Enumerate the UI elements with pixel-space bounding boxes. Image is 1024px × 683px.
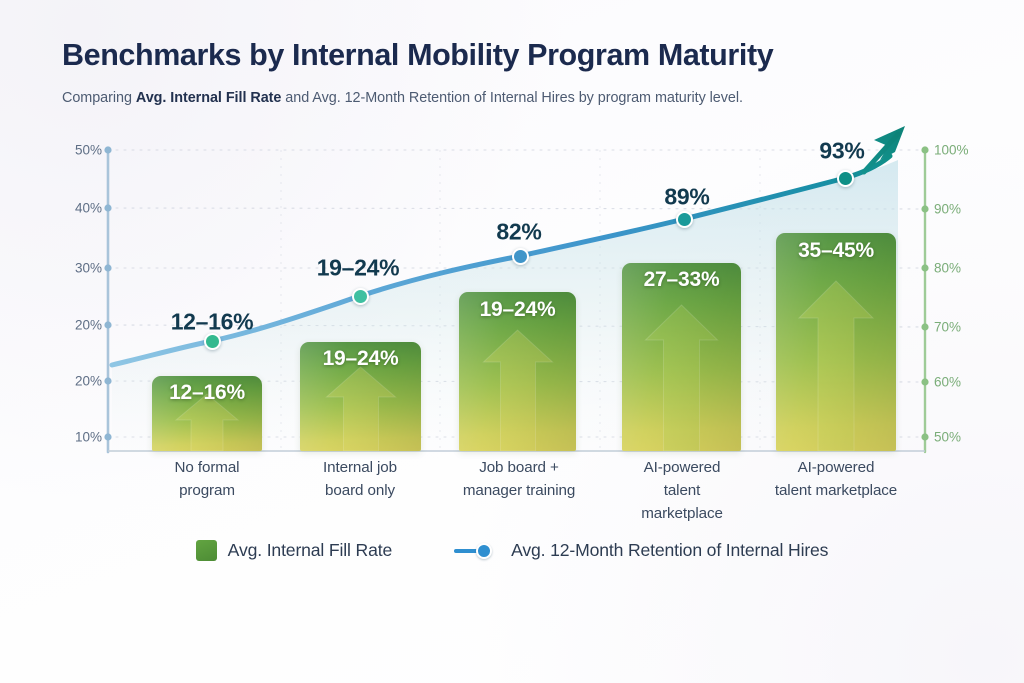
legend-label: Avg. 12-Month Retention of Internal Hire… bbox=[511, 540, 828, 561]
chart-subtitle: Comparing Avg. Internal Fill Rate and Av… bbox=[62, 90, 743, 106]
arrow-icon bbox=[874, 126, 905, 160]
bar-value-label: 19–24% bbox=[300, 347, 421, 371]
category-line: program bbox=[152, 479, 262, 502]
bar-fill-rate[interactable] bbox=[776, 233, 896, 451]
right-axis-tick: 50% bbox=[934, 430, 961, 445]
x-axis-category-label: No formal program bbox=[152, 456, 262, 502]
right-axis-tick: 100% bbox=[934, 143, 969, 158]
line-data-point[interactable] bbox=[352, 288, 369, 305]
legend-item-retention[interactable]: Avg. 12-Month Retention of Internal Hire… bbox=[454, 540, 828, 561]
x-axis-category-label: AI-powered talent marketplace bbox=[620, 456, 744, 525]
right-axis-spine bbox=[921, 146, 928, 452]
page-title: Benchmarks by Internal Mobility Program … bbox=[62, 38, 773, 73]
left-axis-tick: 40% bbox=[75, 201, 102, 216]
y-axis-left: 50% 40% 30% 20% 20% 10% bbox=[58, 0, 102, 683]
category-line: talent bbox=[620, 479, 744, 502]
x-axis-category-label: Job board + manager training bbox=[446, 456, 592, 502]
chart-legend: Avg. Internal Fill Rate Avg. 12-Month Re… bbox=[0, 540, 1024, 561]
category-line: Internal job bbox=[296, 456, 424, 479]
line-value-label: 12–16% bbox=[171, 309, 254, 336]
right-axis-tick: 60% bbox=[934, 375, 961, 390]
left-axis-tick: 20% bbox=[75, 374, 102, 389]
category-line: AI-powered bbox=[620, 456, 744, 479]
legend-item-fill-rate[interactable]: Avg. Internal Fill Rate bbox=[196, 540, 392, 561]
category-line: manager training bbox=[446, 479, 592, 502]
legend-label: Avg. Internal Fill Rate bbox=[228, 540, 392, 561]
bar-value-label: 35–45% bbox=[776, 239, 896, 263]
right-axis-tick: 90% bbox=[934, 202, 961, 217]
left-axis-tick: 10% bbox=[75, 430, 102, 445]
x-axis-category-label: Internal job board only bbox=[296, 456, 424, 502]
subtitle-part-3: and Avg. 12-Month Retention of Internal … bbox=[281, 90, 743, 106]
bar-value-label: 19–24% bbox=[459, 298, 576, 322]
x-axis-category-label: AI-powered talent marketplace bbox=[760, 456, 912, 502]
line-data-point[interactable] bbox=[512, 248, 529, 265]
bar-value-label: 12–16% bbox=[152, 381, 262, 405]
chart-card: Benchmarks by Internal Mobility Program … bbox=[0, 0, 1024, 683]
category-line: board only bbox=[296, 479, 424, 502]
legend-bar-swatch-icon bbox=[196, 540, 217, 561]
bar-value-label: 27–33% bbox=[622, 268, 741, 292]
line-data-point[interactable] bbox=[676, 211, 693, 228]
right-axis-tick: 70% bbox=[934, 320, 961, 335]
legend-line-dot-swatch-icon bbox=[454, 542, 500, 560]
left-axis-tick: 20% bbox=[75, 318, 102, 333]
category-line: Job board + bbox=[446, 456, 592, 479]
category-line: No formal bbox=[152, 456, 262, 479]
bar-sheen bbox=[776, 233, 896, 451]
y-axis-right: 100% 90% 80% 70% 60% 50% bbox=[934, 0, 994, 683]
line-value-label: 19–24% bbox=[317, 255, 400, 282]
line-value-label: 89% bbox=[664, 184, 709, 211]
right-axis-tick: 80% bbox=[934, 261, 961, 276]
left-axis-tick: 50% bbox=[75, 143, 102, 158]
left-axis-tick: 30% bbox=[75, 261, 102, 276]
subtitle-emphasis: Avg. Internal Fill Rate bbox=[136, 90, 281, 106]
category-line: talent marketplace bbox=[760, 479, 912, 502]
line-data-point[interactable] bbox=[837, 170, 854, 187]
line-value-label: 93% bbox=[819, 138, 864, 165]
line-value-label: 82% bbox=[496, 219, 541, 246]
left-axis-spine bbox=[104, 146, 111, 452]
arrow-shaft-icon bbox=[864, 134, 898, 172]
category-line: marketplace bbox=[620, 502, 744, 525]
category-line: AI-powered bbox=[760, 456, 912, 479]
legend-dot-icon bbox=[476, 543, 492, 559]
